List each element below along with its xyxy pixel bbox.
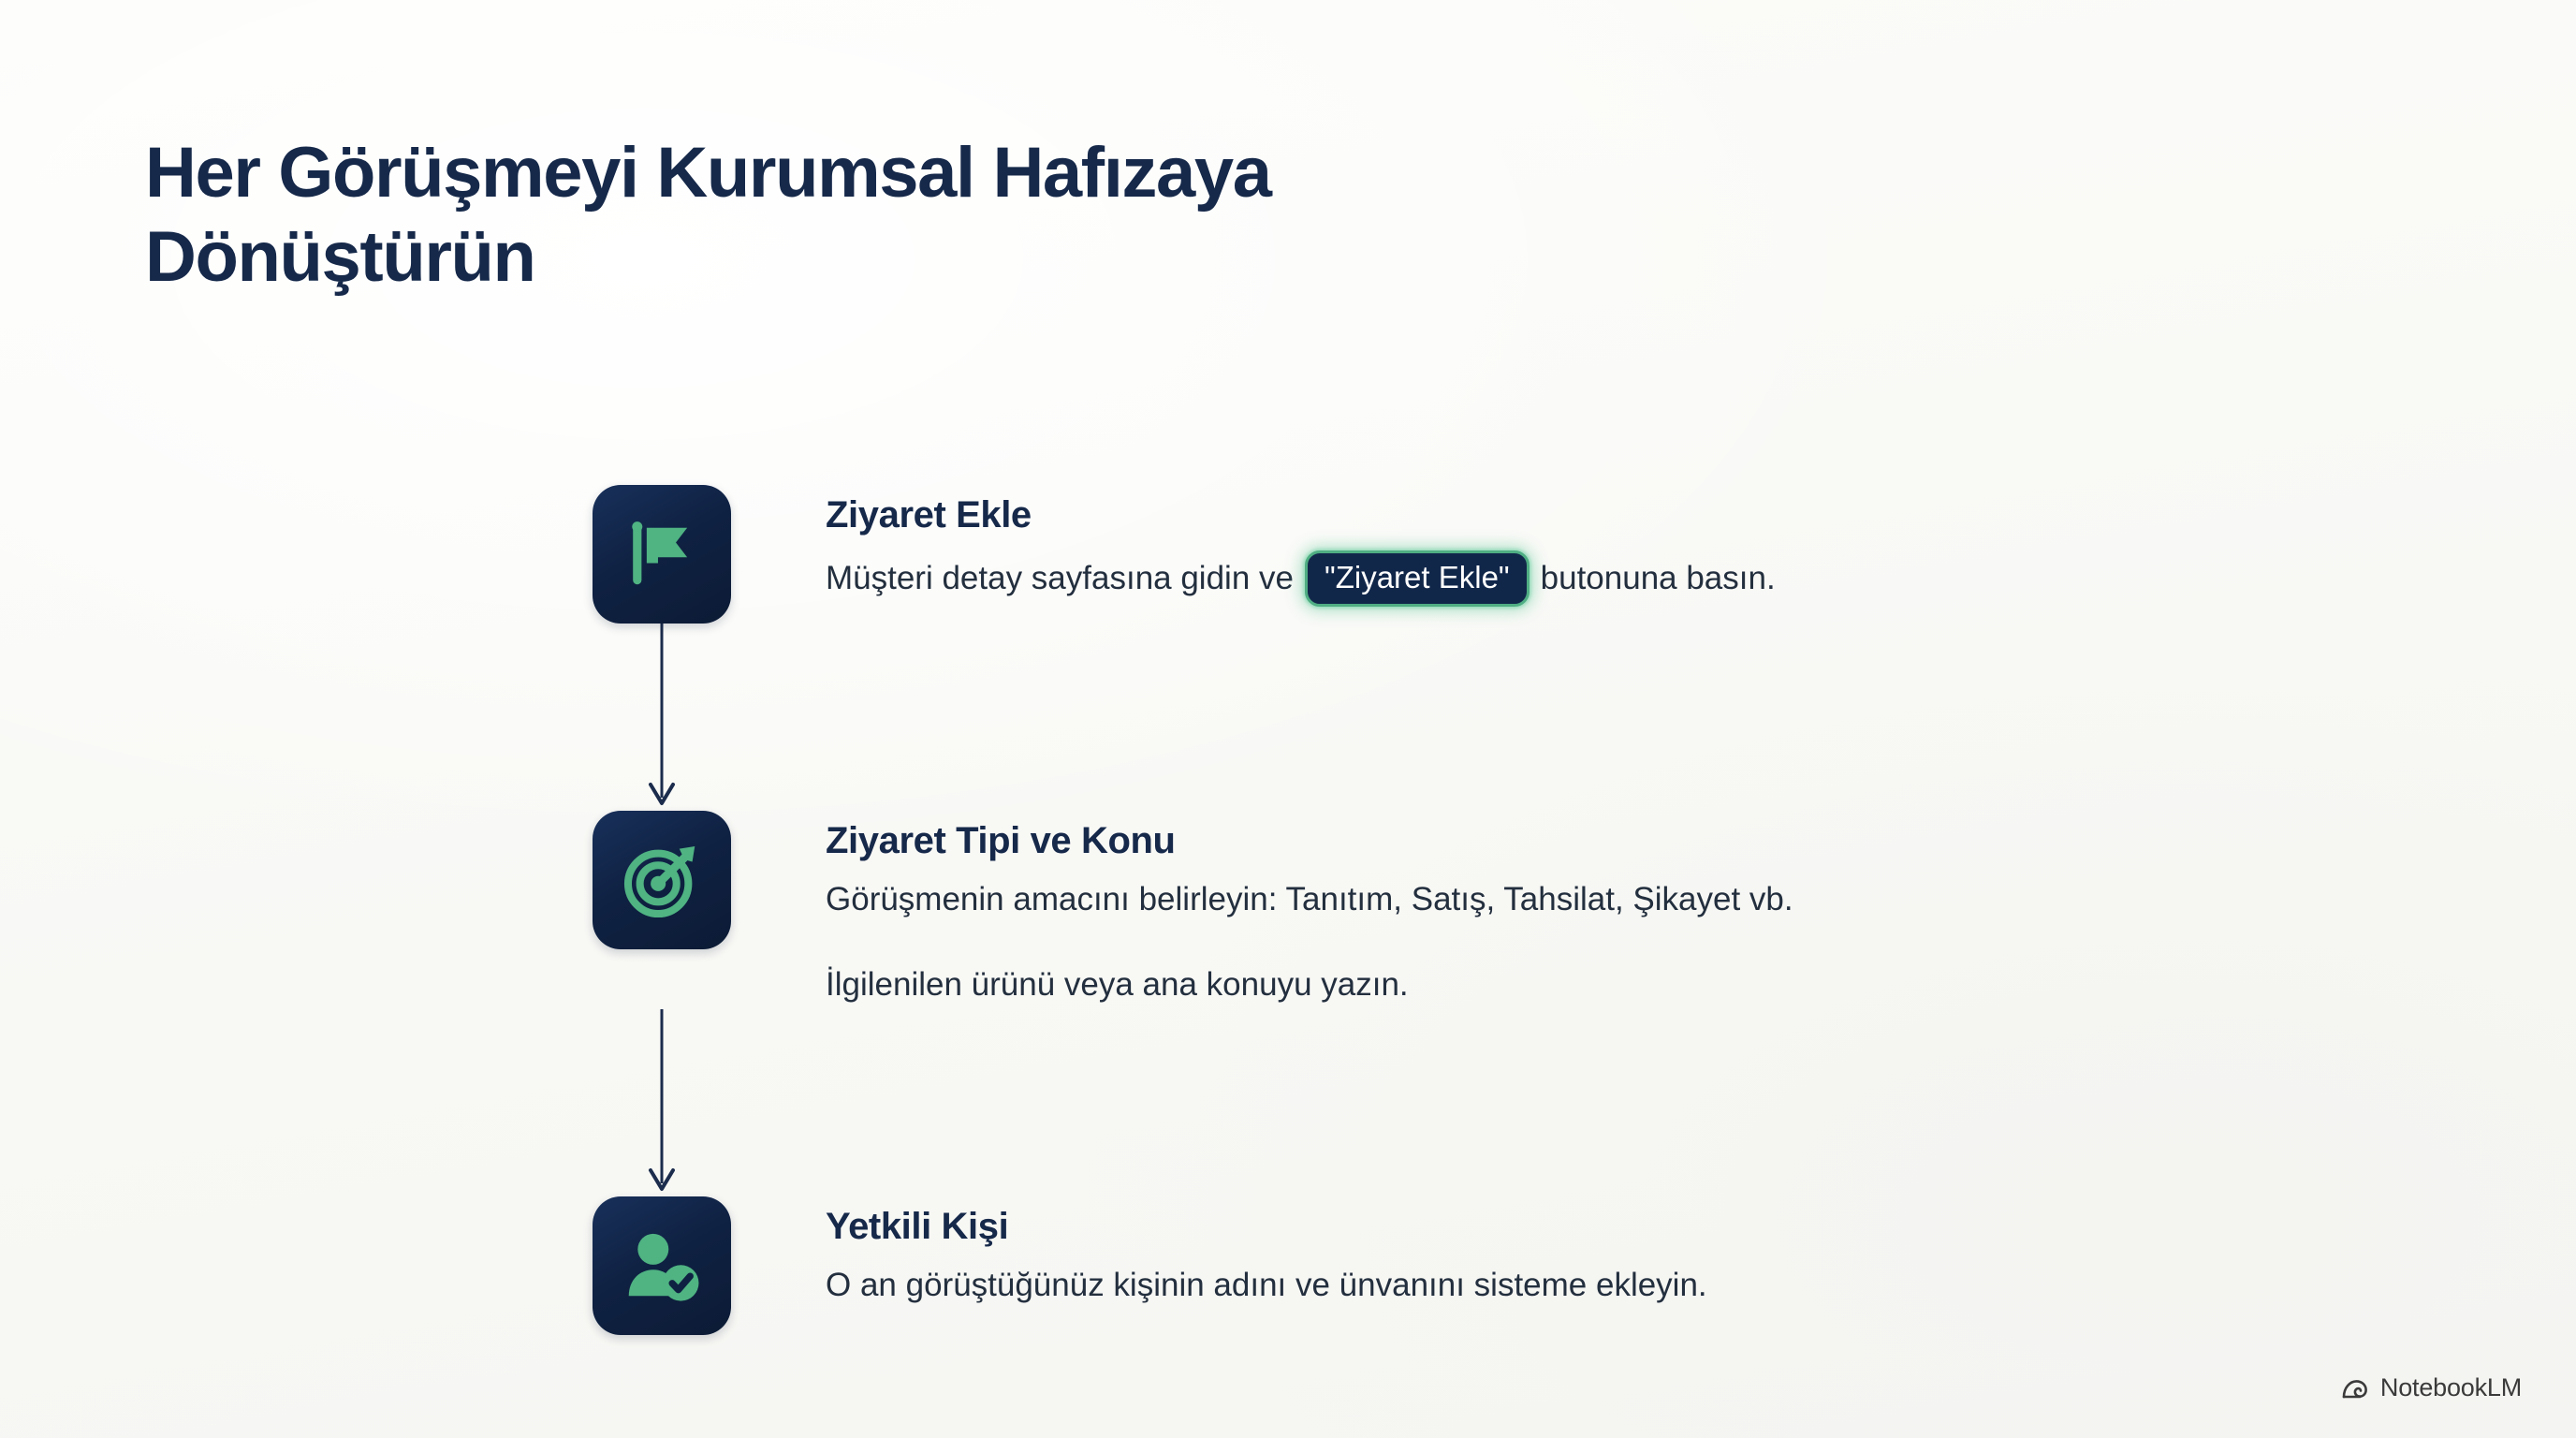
- page-title-line-2: Dönüştürün: [145, 215, 2111, 300]
- step-connector-1: [588, 624, 736, 811]
- page-title-line-1: Her Görüşmeyi Kurumsal Hafızaya: [145, 131, 2111, 215]
- step-3-description-1: O an görüştüğünüz kişinin adını ve ünvan…: [826, 1262, 2366, 1310]
- step-2-title: Ziyaret Tipi ve Konu: [826, 818, 2366, 863]
- ziyaret-ekle-button-highlight[interactable]: "Ziyaret Ekle": [1305, 550, 1529, 607]
- target-icon: [593, 811, 731, 949]
- step-3-icon-column: [588, 1196, 736, 1335]
- step-2-description-2: İlgilenilen ürünü veya ana konuyu yazın.: [826, 961, 2366, 1009]
- step-1-desc-before: Müşteri detay sayfasına gidin ve: [826, 555, 1294, 603]
- step-3-text: Yetkili Kişi O an görüştüğünüz kişinin a…: [736, 1196, 2366, 1310]
- notebooklm-spiral-icon: [2341, 1376, 2369, 1401]
- notebooklm-brand: NotebookLM: [2341, 1373, 2522, 1402]
- step-2-description-1: Görüşmenin amacını belirleyin: Tanıtım, …: [826, 876, 2366, 924]
- step-1-text: Ziyaret Ekle Müşteri detay sayfasına gid…: [736, 485, 2366, 607]
- slide-canvas: Her Görüşmeyi Kurumsal Hafızaya Dönüştür…: [0, 0, 2576, 1438]
- step-1-desc-after: butonuna basın.: [1541, 555, 1776, 603]
- step-3-title: Yetkili Kişi: [826, 1204, 2366, 1249]
- step-2-icon-column: [588, 811, 736, 949]
- step-1-description: Müşteri detay sayfasına gidin ve "Ziyare…: [826, 550, 2366, 607]
- step-1-icon-column: [588, 485, 736, 624]
- steps-list: Ziyaret Ekle Müşteri detay sayfasına gid…: [588, 485, 2366, 1335]
- flag-icon: [593, 485, 731, 624]
- step-item-ziyaret-tipi-ve-konu: Ziyaret Tipi ve Konu Görüşmenin amacını …: [588, 811, 2366, 1009]
- person-check-icon: [593, 1196, 731, 1335]
- page-title: Her Görüşmeyi Kurumsal Hafızaya Dönüştür…: [145, 131, 2111, 299]
- notebooklm-brand-name: NotebookLM: [2380, 1373, 2522, 1402]
- step-item-ziyaret-ekle: Ziyaret Ekle Müşteri detay sayfasına gid…: [588, 485, 2366, 624]
- step-2-text: Ziyaret Tipi ve Konu Görüşmenin amacını …: [736, 811, 2366, 1009]
- step-1-title: Ziyaret Ekle: [826, 492, 2366, 537]
- step-item-yetkili-kisi: Yetkili Kişi O an görüştüğünüz kişinin a…: [588, 1196, 2366, 1335]
- step-connector-2: [588, 1009, 736, 1196]
